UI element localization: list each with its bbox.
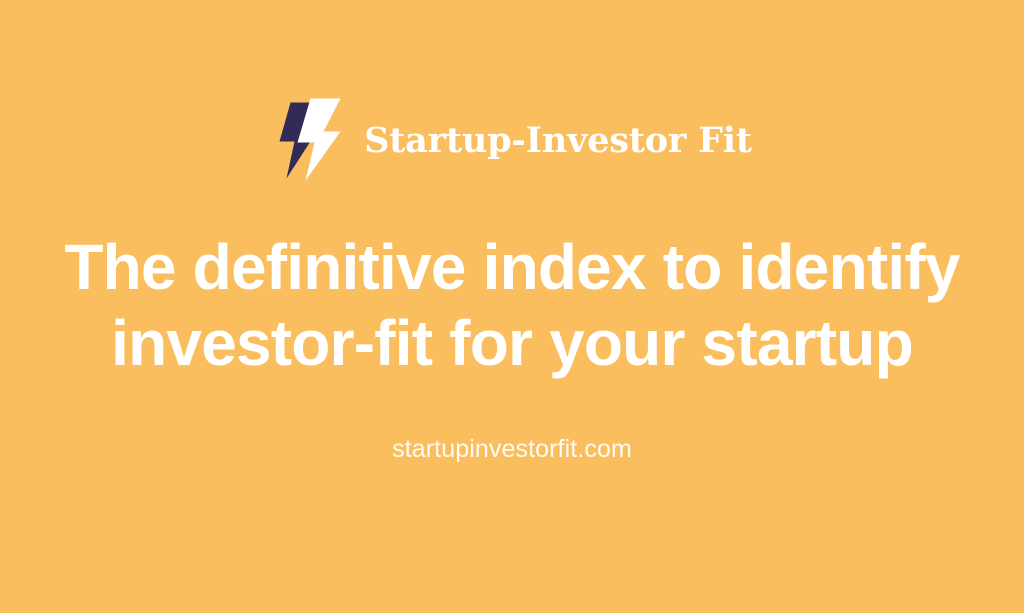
- brand-wordmark: Startup-Investor Fit: [364, 123, 752, 158]
- brand-lockup[interactable]: Startup-Investor Fit: [272, 96, 752, 182]
- lightning-bolt-logo-icon: [272, 97, 346, 181]
- headline-line-1: The definitive index to identify: [62, 230, 962, 306]
- site-url-link[interactable]: startupinvestorfit.com: [392, 437, 632, 462]
- headline-line-2: investor-fit for your startup: [62, 306, 962, 382]
- page-title: The definitive index to identify investo…: [62, 230, 962, 381]
- hero-card: Startup-Investor Fit The definitive inde…: [0, 0, 1024, 613]
